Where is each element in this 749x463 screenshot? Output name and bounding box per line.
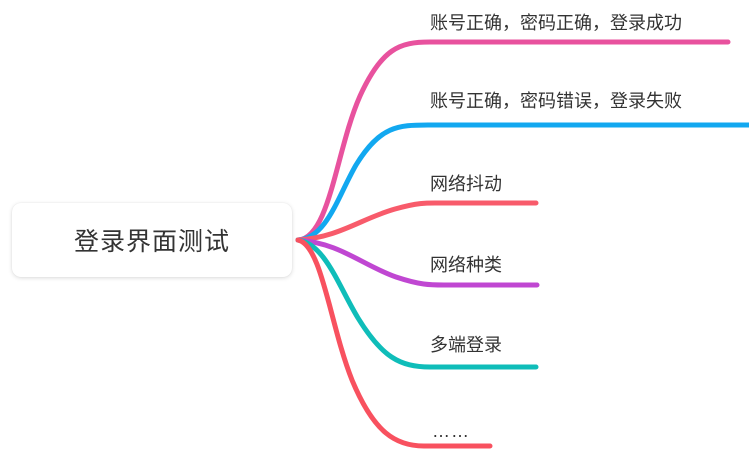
root-node-label: 登录界面测试 — [74, 222, 230, 258]
branch-label-5[interactable]: …… — [432, 422, 470, 440]
branch-path-0[interactable] — [298, 42, 728, 240]
branch-label-4[interactable]: 多端登录 — [430, 336, 502, 354]
branch-label-2[interactable]: 网络抖动 — [430, 175, 502, 193]
mindmap-canvas: 登录界面测试 账号正确，密码正确，登录成功 账号正确，密码错误，登录失败 网络抖… — [0, 0, 749, 463]
branch-label-0[interactable]: 账号正确，密码正确，登录成功 — [430, 14, 682, 32]
branch-label-3[interactable]: 网络种类 — [430, 256, 502, 274]
root-node[interactable]: 登录界面测试 — [12, 203, 292, 277]
branch-path-1[interactable] — [298, 125, 749, 240]
branch-label-1[interactable]: 账号正确，密码错误，登录失败 — [430, 92, 682, 110]
